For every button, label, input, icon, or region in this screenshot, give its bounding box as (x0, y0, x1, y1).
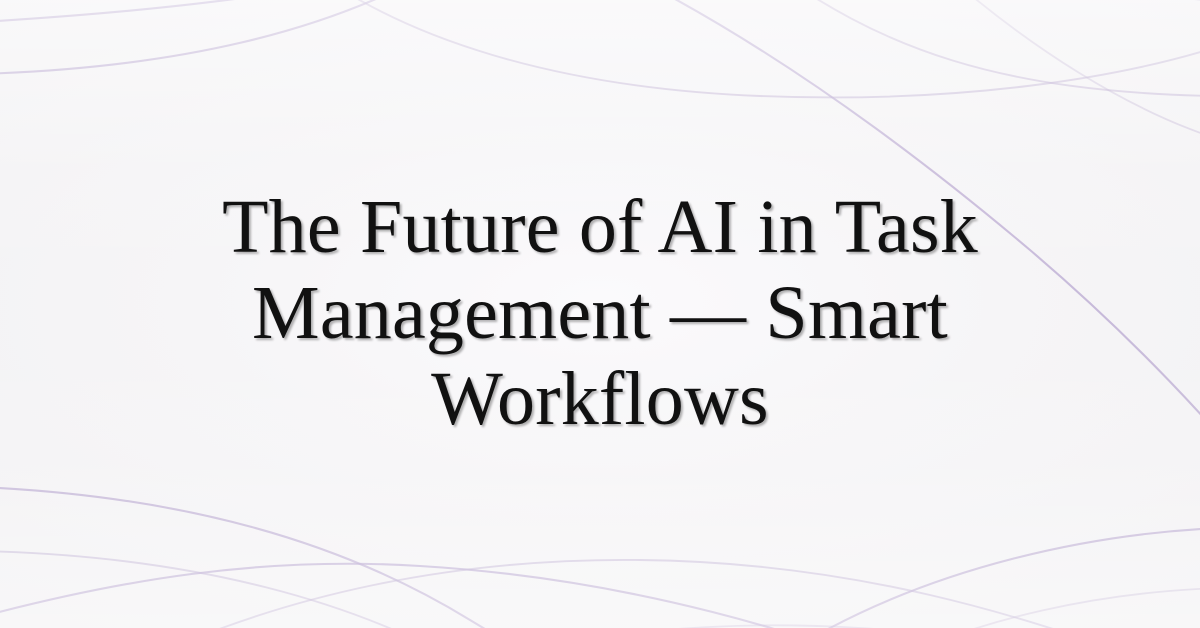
page-title: The Future of AI in Task Management — Sm… (96, 185, 1104, 443)
og-card: The Future of AI in Task Management — Sm… (0, 0, 1200, 628)
title-container: The Future of AI in Task Management — Sm… (0, 0, 1200, 628)
